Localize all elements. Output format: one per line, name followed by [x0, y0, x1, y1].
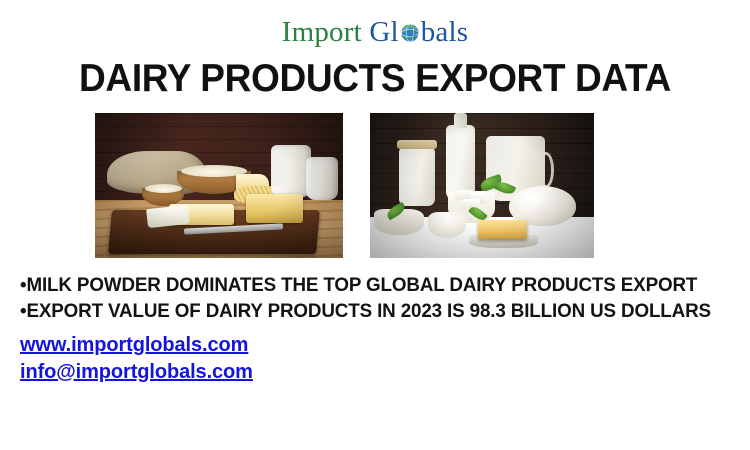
page-title: DAIRY PRODUCTS EXPORT DATA	[19, 58, 732, 100]
dairy-products-board-photo	[95, 113, 343, 258]
website-link[interactable]: www.importglobals.com	[20, 332, 253, 359]
photo-right-milk-bottle	[446, 125, 475, 200]
photo-left-scene	[95, 113, 343, 258]
brand-logo[interactable]: Import Gl bals	[0, 18, 750, 47]
photo-right-cream-cup	[428, 212, 466, 238]
dairy-assortment-photo	[370, 113, 594, 258]
globe-icon	[399, 22, 421, 44]
photo-right-scene	[370, 113, 594, 258]
email-link[interactable]: info@importglobals.com	[20, 359, 253, 386]
photo-left-milk-jug-small	[306, 157, 338, 201]
photo-left-cheese-wedge	[246, 194, 303, 223]
contact-links: www.importglobals.com info@importglobals…	[20, 332, 253, 386]
photo-right-butter-block	[478, 220, 527, 239]
logo-wordmark: Import Gl bals	[282, 18, 469, 47]
list-item: •MILK POWDER DOMINATES THE TOP GLOBAL DA…	[20, 272, 711, 298]
logo-text-import: Import	[282, 16, 362, 48]
photo-left-milk-jug-large	[271, 145, 311, 197]
list-item: •EXPORT VALUE OF DAIRY PRODUCTS IN 2023 …	[20, 298, 711, 324]
logo-text-bals: bals	[421, 16, 469, 48]
photo-right-milk-jar	[399, 148, 435, 206]
key-points-list: •MILK POWDER DOMINATES THE TOP GLOBAL DA…	[20, 272, 736, 324]
logo-text-gl: Gl	[369, 16, 398, 48]
